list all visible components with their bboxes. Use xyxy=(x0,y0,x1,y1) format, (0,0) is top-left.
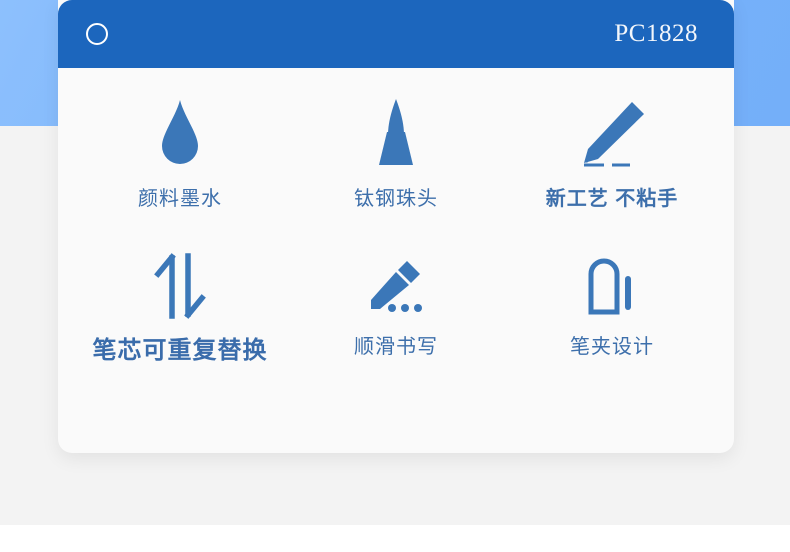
pencil-dots-icon xyxy=(367,250,425,322)
up-down-arrows-icon xyxy=(153,250,207,322)
pen-nib-icon xyxy=(370,94,422,172)
feature-item-pigment-ink[interactable]: 颜料墨水 xyxy=(72,94,288,250)
feature-label: 钛钢珠头 xyxy=(354,182,438,211)
water-drop-icon xyxy=(157,94,203,172)
feature-label: 笔芯可重复替换 xyxy=(93,330,268,365)
feature-item-new-process[interactable]: 新工艺 不粘手 xyxy=(504,94,720,250)
feature-item-smooth-writing[interactable]: 顺滑书写 xyxy=(288,250,504,406)
feature-item-refillable[interactable]: 笔芯可重复替换 xyxy=(72,250,288,406)
circle-ring-icon xyxy=(86,23,108,45)
pen-clip-icon xyxy=(584,250,640,322)
feature-item-ball-tip[interactable]: 钛钢珠头 xyxy=(288,94,504,250)
model-code-label: PC1828 xyxy=(614,20,698,48)
feature-card: PC1828 颜料墨水 钛钢珠头 xyxy=(58,0,734,453)
pen-writing-line-icon xyxy=(574,94,650,172)
feature-label: 新工艺 不粘手 xyxy=(546,182,679,211)
feature-grid: 颜料墨水 钛钢珠头 xyxy=(58,68,734,453)
feature-label: 顺滑书写 xyxy=(354,330,438,359)
feature-label: 颜料墨水 xyxy=(138,182,222,211)
feature-item-clip-design[interactable]: 笔夹设计 xyxy=(504,250,720,406)
background-white-footer xyxy=(0,525,790,552)
card-header: PC1828 xyxy=(58,0,734,68)
product-feature-page: PC1828 颜料墨水 钛钢珠头 xyxy=(0,0,790,552)
feature-label: 笔夹设计 xyxy=(570,330,654,359)
